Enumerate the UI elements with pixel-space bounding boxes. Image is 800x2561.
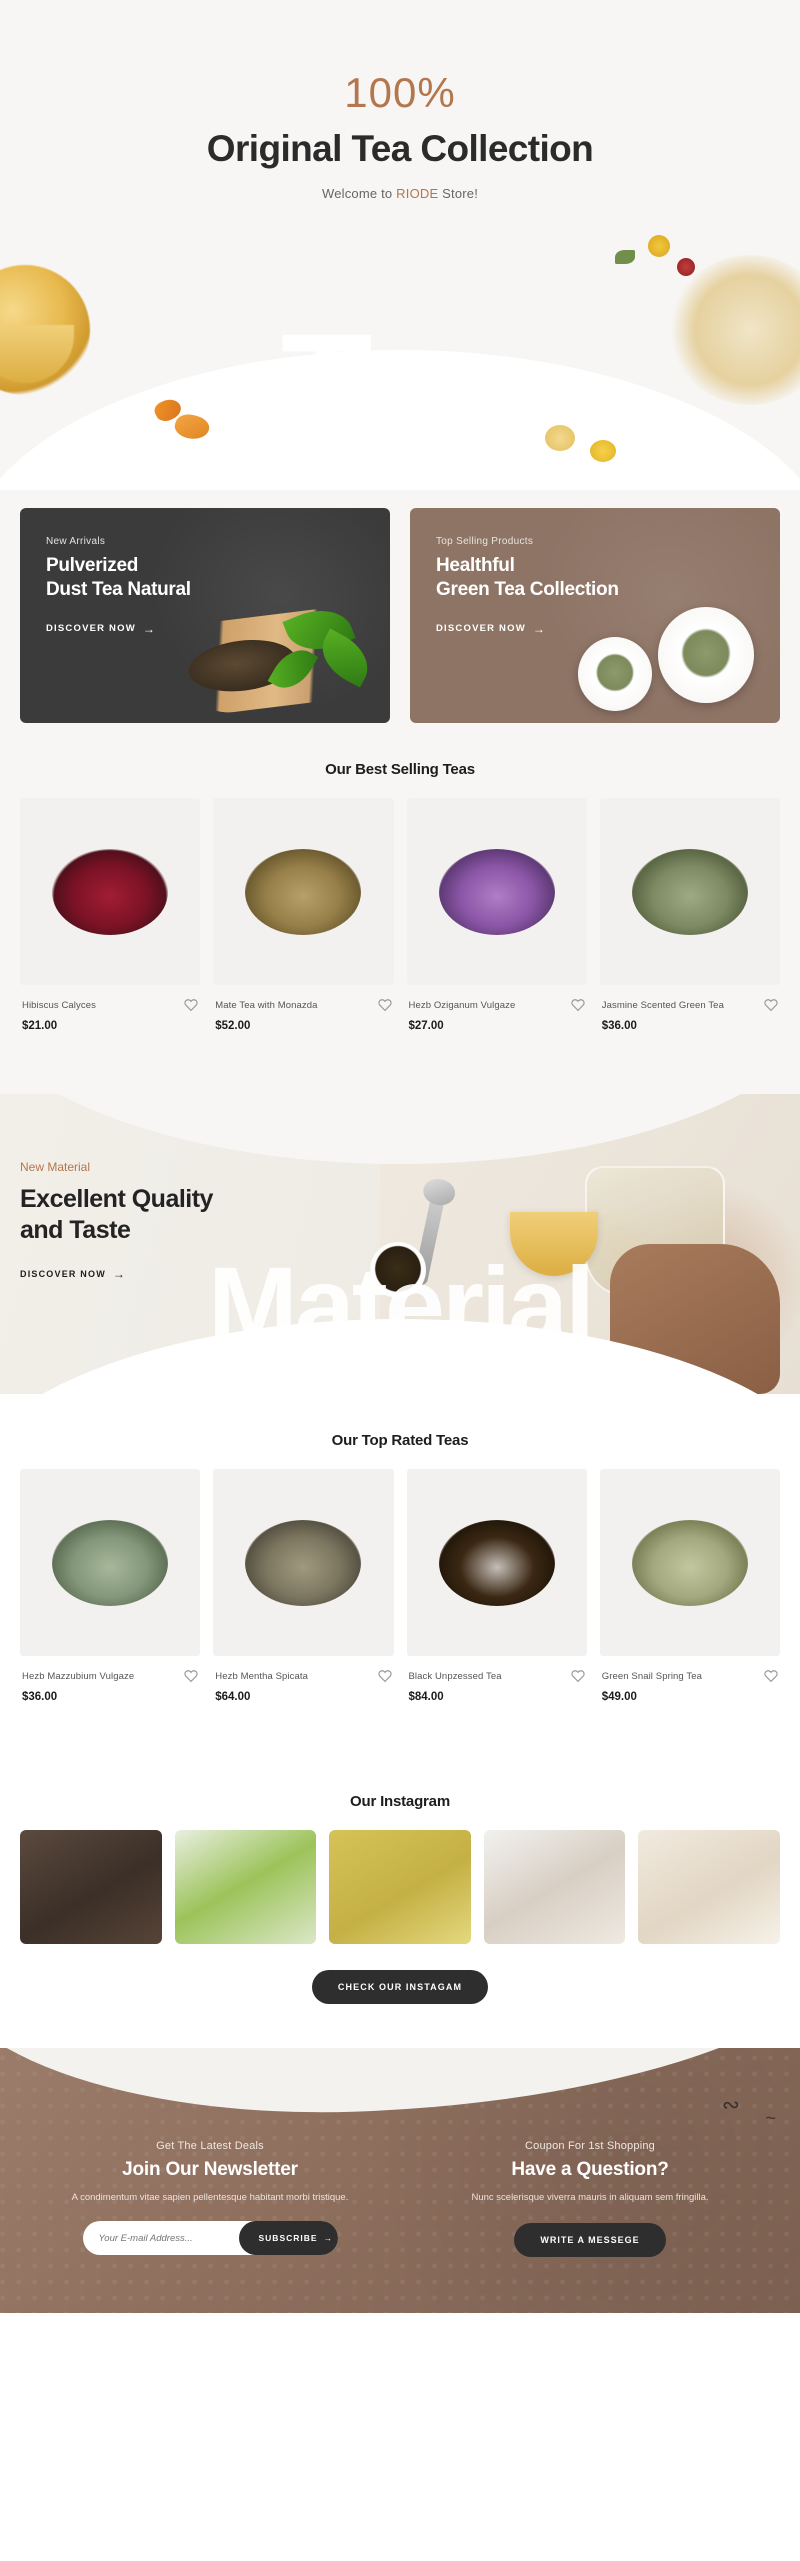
wishlist-heart-icon[interactable] <box>184 1669 198 1683</box>
product-name: Hezb Mentha Spicata <box>215 1671 308 1682</box>
question-column: Coupon For 1st Shopping Have a Question?… <box>400 2140 780 2257</box>
product-price: $84.00 <box>407 1683 587 1703</box>
instagram-tile-matcha-powder[interactable] <box>175 1830 317 1944</box>
hero-welcome-suffix: Store! <box>438 186 478 201</box>
product-card[interactable]: Hezb Mazzubium Vulgaze $36.00 <box>20 1469 200 1703</box>
product-grid-top-rated: Hezb Mazzubium Vulgaze $36.00 Hezb Menth… <box>20 1469 780 1755</box>
arrow-right-icon: → <box>324 2233 334 2243</box>
banner-title-line1: Healthful <box>436 555 515 576</box>
instagram-tile-fruit-tea[interactable] <box>484 1830 626 1944</box>
product-price: $52.00 <box>213 1012 393 1032</box>
product-price: $64.00 <box>213 1683 393 1703</box>
wishlist-heart-icon[interactable] <box>571 998 585 1012</box>
black-tea-image <box>439 1520 555 1606</box>
product-card[interactable]: Hibiscus Calyces $21.00 <box>20 798 200 1032</box>
product-meta: Hezb Mazzubium Vulgaze <box>20 1656 200 1683</box>
product-meta: Hezb Mentha Spicata <box>213 1656 393 1683</box>
snail-spring-tea-image <box>632 1520 748 1606</box>
newsletter-form: SUBSCRIBE → <box>83 2221 338 2255</box>
arrow-right-icon: → <box>533 622 546 636</box>
section-title-top-rated: Our Top Rated Teas <box>20 1394 780 1469</box>
material-content: New Material Excellent Quality and Taste… <box>20 1094 780 1282</box>
product-image[interactable] <box>20 1469 200 1656</box>
material-title-line2: and Taste <box>20 1216 130 1244</box>
section-title-best-selling: Our Best Selling Teas <box>20 723 780 798</box>
discover-now-button[interactable]: DISCOVER NOW → <box>46 622 156 636</box>
product-meta: Hezb Oziganum Vulgaze <box>407 985 587 1012</box>
wishlist-heart-icon[interactable] <box>764 1669 778 1683</box>
wishlist-heart-icon[interactable] <box>184 998 198 1012</box>
check-instagram-button[interactable]: CHECK OUR INSTAGAM <box>312 1970 488 2004</box>
product-image[interactable] <box>20 798 200 985</box>
product-meta: Jasmine Scented Green Tea <box>600 985 780 1012</box>
dried-flower-icon <box>648 235 670 257</box>
tea-bowl-large-image <box>658 607 754 703</box>
write-message-button[interactable]: WRITE A MESSEGE <box>514 2223 665 2257</box>
product-image[interactable] <box>600 1469 780 1656</box>
banner-kicker: Top Selling Products <box>436 536 780 547</box>
instagram-tile-yellow-cup[interactable] <box>329 1830 471 1944</box>
product-name: Green Snail Spring Tea <box>602 1671 702 1682</box>
discover-now-label: DISCOVER NOW <box>46 623 136 634</box>
material-title-line1: Excellent Quality <box>20 1185 213 1213</box>
footer-columns: Get The Latest Deals Join Our Newsletter… <box>20 2048 780 2257</box>
banner-title: Healthful Green Tea Collection <box>436 554 780 602</box>
banner-title-line2: Dust Tea Natural <box>46 579 191 600</box>
hero-section: Tea 100% Original Tea Collection Welcome… <box>0 0 800 490</box>
email-input[interactable] <box>83 2221 239 2255</box>
top-rated-section: Our Top Rated Teas Hezb Mazzubium Vulgaz… <box>0 1394 800 2048</box>
material-banner-section: Material New Material Excellent Quality … <box>0 1094 800 1394</box>
product-name: Hibiscus Calyces <box>22 1000 96 1011</box>
instagram-tile-glass-jar[interactable] <box>638 1830 780 1944</box>
product-price: $36.00 <box>600 1012 780 1032</box>
promo-and-products-section: New Arrivals Pulverized Dust Tea Natural… <box>0 490 800 1094</box>
subscribe-button[interactable]: SUBSCRIBE → <box>239 2221 338 2255</box>
banner-title-line1: Pulverized <box>46 555 138 576</box>
promo-banner-healthful[interactable]: Top Selling Products Healthful Green Tea… <box>410 508 780 723</box>
mate-tea-image <box>245 849 361 935</box>
banner-kicker: New Arrivals <box>46 536 390 547</box>
product-meta: Green Snail Spring Tea <box>600 1656 780 1683</box>
product-card[interactable]: Mate Tea with Monazda $52.00 <box>213 798 393 1032</box>
product-image[interactable] <box>407 1469 587 1656</box>
hero-percent: 100% <box>0 72 800 114</box>
product-meta: Black Unpzessed Tea <box>407 1656 587 1683</box>
instagram-tile-dark-bowls[interactable] <box>20 1830 162 1944</box>
instagram-grid <box>20 1830 780 1970</box>
product-card[interactable]: Green Snail Spring Tea $49.00 <box>600 1469 780 1703</box>
wishlist-heart-icon[interactable] <box>764 998 778 1012</box>
jasmine-tea-image <box>632 849 748 935</box>
product-grid-best-selling: Hibiscus Calyces $21.00 Mate Tea with Mo… <box>20 798 780 1084</box>
newsletter-kicker: Get The Latest Deals <box>34 2140 386 2152</box>
wishlist-heart-icon[interactable] <box>378 1669 392 1683</box>
question-kicker: Coupon For 1st Shopping <box>414 2140 766 2152</box>
product-card[interactable]: Hezb Mentha Spicata $64.00 <box>213 1469 393 1703</box>
newsletter-column: Get The Latest Deals Join Our Newsletter… <box>20 2140 400 2257</box>
promo-banner-row: New Arrivals Pulverized Dust Tea Natural… <box>20 490 780 723</box>
mazzubium-tea-image <box>52 1520 168 1606</box>
product-image[interactable] <box>213 1469 393 1656</box>
hero-content: 100% Original Tea Collection Welcome to … <box>0 0 800 201</box>
berry-icon <box>677 258 695 276</box>
banner-title: Pulverized Dust Tea Natural <box>46 554 390 602</box>
product-price: $36.00 <box>20 1683 200 1703</box>
discover-now-button[interactable]: DISCOVER NOW → <box>436 622 546 636</box>
product-image[interactable] <box>213 798 393 985</box>
brand-name: RIODE <box>396 186 438 201</box>
hibiscus-tea-image <box>52 849 168 935</box>
discover-now-label: DISCOVER NOW <box>436 623 526 634</box>
material-title: Excellent Quality and Taste <box>20 1184 780 1247</box>
newsletter-title: Join Our Newsletter <box>34 2159 386 2181</box>
page-title: Original Tea Collection <box>0 128 800 170</box>
teapot-right-image <box>670 255 800 405</box>
section-title-instagram: Our Instagram <box>20 1755 780 1830</box>
hero-welcome-prefix: Welcome to <box>322 186 396 201</box>
arrow-right-icon: → <box>113 1267 126 1281</box>
product-name: Black Unpzessed Tea <box>409 1671 502 1682</box>
product-image[interactable] <box>600 798 780 985</box>
arrow-right-icon: → <box>143 622 156 636</box>
product-meta: Hibiscus Calyces <box>20 985 200 1012</box>
dried-flower-icon <box>590 440 616 462</box>
product-card[interactable]: Jasmine Scented Green Tea $36.00 <box>600 798 780 1032</box>
tea-bowl-small-image <box>578 637 652 711</box>
instagram-button-wrap: CHECK OUR INSTAGAM <box>20 1970 780 2048</box>
product-price: $27.00 <box>407 1012 587 1032</box>
product-price: $21.00 <box>20 1012 200 1032</box>
product-name: Hezb Mazzubium Vulgaze <box>22 1671 134 1682</box>
question-description: Nunc scelerisque viverra mauris in aliqu… <box>414 2191 766 2205</box>
product-name: Hezb Oziganum Vulgaze <box>409 1000 516 1011</box>
leaf-icon <box>615 250 635 264</box>
product-name: Mate Tea with Monazda <box>215 1000 317 1011</box>
mentha-tea-image <box>245 1520 361 1606</box>
product-price: $49.00 <box>600 1683 780 1703</box>
promo-banner-pulverized[interactable]: New Arrivals Pulverized Dust Tea Natural… <box>20 508 390 723</box>
material-kicker: New Material <box>20 1160 780 1174</box>
product-card[interactable]: Black Unpzessed Tea $84.00 <box>407 1469 587 1703</box>
banner-title-line2: Green Tea Collection <box>436 579 619 600</box>
product-card[interactable]: Hezb Oziganum Vulgaze $27.00 <box>407 798 587 1032</box>
teapot-left-image <box>0 265 90 395</box>
newsletter-description: A condimentum vitae sapien pellentesque … <box>34 2191 386 2205</box>
discover-now-label: DISCOVER NOW <box>20 1269 106 1279</box>
subscribe-label: SUBSCRIBE <box>259 2233 318 2243</box>
product-meta: Mate Tea with Monazda <box>213 985 393 1012</box>
discover-now-button[interactable]: DISCOVER NOW → <box>20 1267 126 1281</box>
oziganum-tea-image <box>439 849 555 935</box>
question-title: Have a Question? <box>414 2159 766 2181</box>
hero-subtitle: Welcome to RIODE Store! <box>0 186 800 201</box>
dried-flower-icon <box>545 425 575 451</box>
footer-section: ∾ ~ Get The Latest Deals Join Our Newsle… <box>0 2048 800 2313</box>
product-image[interactable] <box>407 798 587 985</box>
wishlist-heart-icon[interactable] <box>571 1669 585 1683</box>
wishlist-heart-icon[interactable] <box>378 998 392 1012</box>
hero-bottom-curve <box>0 350 800 490</box>
product-name: Jasmine Scented Green Tea <box>602 1000 724 1011</box>
